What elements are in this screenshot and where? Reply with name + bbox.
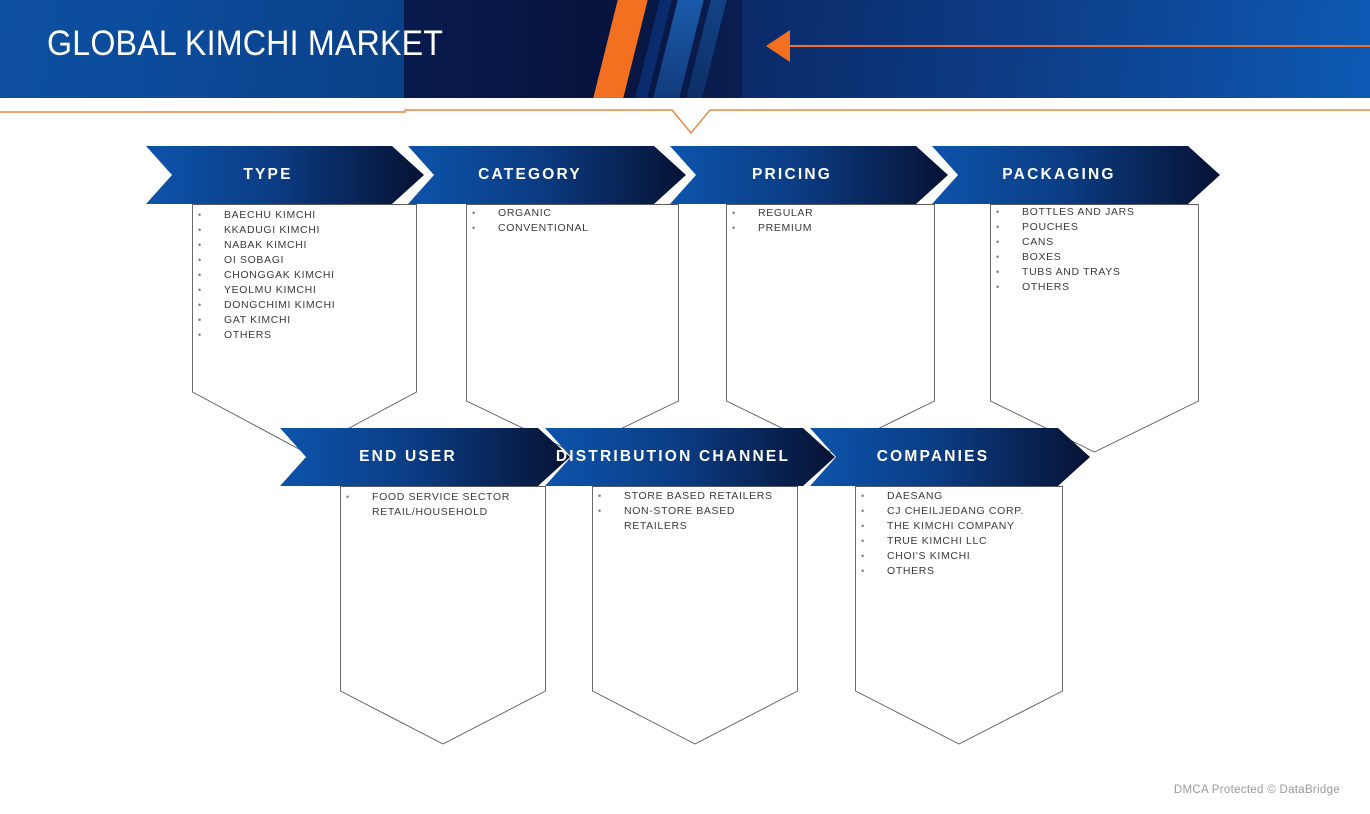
bullet-icon: •: [472, 221, 476, 236]
list-item: •CANS: [996, 235, 1210, 250]
list-item: •CHONGGAK KIMCHI: [198, 268, 414, 283]
list-item: •DONGCHIMI KIMCHI: [198, 298, 414, 313]
list-category: •ORGANIC •CONVENTIONAL: [472, 206, 676, 236]
segment-pricing: PRICING •REGULAR •PREMIUM: [670, 146, 948, 396]
bullet-icon: •: [996, 235, 1000, 250]
banner-type: [146, 146, 424, 204]
bullet-icon: •: [996, 250, 1000, 265]
list-pricing: •REGULAR •PREMIUM: [732, 206, 938, 236]
bullet-icon: •: [198, 313, 202, 328]
list-item: •NABAK KIMCHI: [198, 238, 414, 253]
list-item: •BOTTLES AND JARS: [996, 205, 1210, 220]
list-item: •PREMIUM: [732, 221, 938, 236]
list-item: •TRUE KIMCHI LLC: [861, 534, 1080, 549]
list-item: •OTHERS: [198, 328, 414, 343]
bullet-icon: •: [198, 298, 202, 313]
page-title: GLOBAL KIMCHI MARKET: [47, 24, 443, 64]
segment-distribution-channel: DISTRIBUTION CHANNEL •STORE BASED RETAIL…: [545, 428, 835, 688]
segment-category: CATEGORY •ORGANIC •CONVENTIONAL: [408, 146, 686, 396]
arrow-line: [788, 45, 1370, 47]
list-item: •FOOD SERVICE SECTOR RETAIL/HOUSEHOLD: [346, 490, 560, 520]
list-item: •YEOLMU KIMCHI: [198, 283, 414, 298]
list-item: •NON-STORE BASED RETAILERS: [598, 504, 825, 534]
list-item: •OI SOBAGI: [198, 253, 414, 268]
copyright-footer: DMCA Protected © DataBridge: [1174, 784, 1340, 796]
list-item: •KKADUGI KIMCHI: [198, 223, 414, 238]
left-arrow-icon: [766, 30, 790, 62]
bullet-icon: •: [346, 490, 350, 505]
bullet-icon: •: [861, 489, 865, 504]
bullet-icon: •: [598, 489, 602, 504]
bullet-icon: •: [732, 221, 736, 236]
card-end-user: [340, 486, 546, 746]
bullet-icon: •: [861, 534, 865, 549]
list-item: •ORGANIC: [472, 206, 676, 221]
list-item: •CJ CHEILJEDANG CORP.: [861, 504, 1080, 519]
bullet-icon: •: [198, 208, 202, 223]
bullet-icon: •: [198, 328, 202, 343]
list-item: •DAESANG: [861, 489, 1080, 504]
bullet-icon: •: [996, 265, 1000, 280]
bullet-icon: •: [996, 220, 1000, 235]
bullet-icon: •: [598, 504, 602, 519]
bullet-icon: •: [861, 519, 865, 534]
bullet-icon: •: [198, 238, 202, 253]
list-item: •OTHERS: [861, 564, 1080, 579]
banner-packaging: [932, 146, 1220, 204]
segment-companies: COMPANIES •DAESANG •CJ CHEILJEDANG CORP.…: [810, 428, 1090, 688]
bullet-icon: •: [198, 283, 202, 298]
bullet-icon: •: [198, 268, 202, 283]
list-item: •OTHERS: [996, 280, 1210, 295]
list-item: •CHOI'S KIMCHI: [861, 549, 1080, 564]
list-item: •STORE BASED RETAILERS: [598, 489, 825, 504]
list-item: •GAT KIMCHI: [198, 313, 414, 328]
bullet-icon: •: [198, 223, 202, 238]
card-category: [466, 204, 679, 454]
list-item: •TUBS AND TRAYS: [996, 265, 1210, 280]
list-type: •BAECHU KIMCHI •KKADUGI KIMCHI •NABAK KI…: [198, 208, 414, 343]
bullet-icon: •: [861, 504, 865, 519]
infographic-canvas: GLOBAL KIMCHI MARKET TYPE •BAECHU KIMCHI: [0, 0, 1370, 814]
list-item: •BOXES: [996, 250, 1210, 265]
bullet-icon: •: [861, 549, 865, 564]
list-end-user: •FOOD SERVICE SECTOR RETAIL/HOUSEHOLD: [346, 490, 560, 520]
bullet-icon: •: [996, 205, 1000, 220]
list-companies: •DAESANG •CJ CHEILJEDANG CORP. •THE KIMC…: [861, 489, 1080, 579]
banner-distribution-channel: [545, 428, 835, 486]
list-item: •CONVENTIONAL: [472, 221, 676, 236]
bullet-icon: •: [472, 206, 476, 221]
segment-end-user: END USER •FOOD SERVICE SECTOR RETAIL/HOU…: [280, 428, 570, 688]
list-item: •THE KIMCHI COMPANY: [861, 519, 1080, 534]
list-item: •REGULAR: [732, 206, 938, 221]
banner-pricing: [670, 146, 948, 204]
header-background-right: [742, 0, 1370, 98]
bullet-icon: •: [198, 253, 202, 268]
orange-divider-line: [0, 98, 1370, 142]
list-distribution-channel: •STORE BASED RETAILERS •NON-STORE BASED …: [598, 489, 825, 534]
banner-category: [408, 146, 686, 204]
header-banner: GLOBAL KIMCHI MARKET: [0, 0, 1370, 98]
banner-end-user: [280, 428, 570, 486]
segment-type: TYPE •BAECHU KIMCHI •KKADUGI KIMCHI •NAB…: [146, 146, 424, 396]
banner-companies: [810, 428, 1090, 486]
list-packaging: •BOTTLES AND JARS •POUCHES •CANS •BOXES …: [996, 205, 1210, 295]
segment-packaging: PACKAGING •BOTTLES AND JARS •POUCHES •CA…: [932, 146, 1220, 396]
bullet-icon: •: [996, 280, 1000, 295]
bullet-icon: •: [732, 206, 736, 221]
list-item: •BAECHU KIMCHI: [198, 208, 414, 223]
card-pricing: [726, 204, 935, 454]
list-item: •POUCHES: [996, 220, 1210, 235]
bullet-icon: •: [861, 564, 865, 579]
